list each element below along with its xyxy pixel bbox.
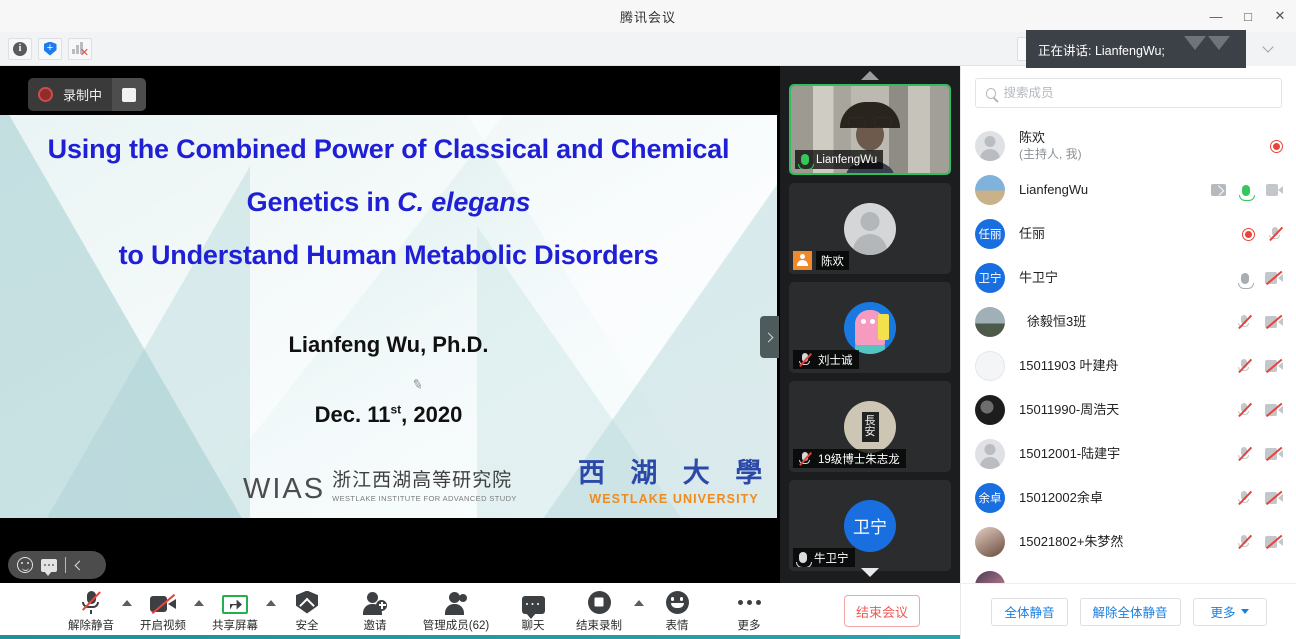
slide-title-line-3: to Understand Human Metabolic Disorders	[0, 229, 777, 282]
video-tile[interactable]: LianfengWu	[789, 84, 951, 175]
search-icon	[986, 88, 996, 99]
tile-name: LianfengWu	[816, 154, 877, 166]
share-toolbar-left: i + ✕	[0, 38, 92, 60]
manage-members-label: 管理成员(62)	[423, 617, 489, 633]
end-meeting-button[interactable]: 结束会议	[844, 595, 920, 627]
participant-actions	[1211, 184, 1283, 196]
pointer-mark: ✎	[410, 376, 424, 394]
minimize-button[interactable]: —	[1200, 0, 1232, 32]
search-box[interactable]	[975, 78, 1282, 108]
mic-off-icon[interactable]	[1237, 314, 1252, 331]
westlake-university-logo: 西 湖 大 學 WESTLAKE UNIVERSITY	[578, 458, 770, 506]
shield-check-icon	[296, 591, 318, 614]
mic-options-caret-icon[interactable]	[122, 600, 132, 606]
more-button[interactable]: 更多	[720, 584, 778, 638]
camera-off-icon	[150, 594, 176, 614]
search-input[interactable]	[1003, 86, 1271, 100]
more-label: 更多	[1211, 602, 1236, 621]
participant-name: 牛卫宁	[1019, 270, 1058, 286]
participant-actions	[1237, 534, 1283, 551]
avatar	[975, 439, 1005, 469]
mic-off-icon[interactable]	[1237, 534, 1252, 551]
unmute-button[interactable]: 解除静音	[62, 584, 120, 638]
unmute-label: 解除静音	[68, 617, 114, 633]
invite-button[interactable]: 邀请	[346, 584, 404, 638]
participant-name: 陈欢 (主持人, 我)	[1019, 130, 1082, 163]
video-tile[interactable]: 長安 19级博士朱志龙	[789, 381, 951, 472]
filmstrip-scroll-down[interactable]	[780, 563, 960, 581]
tile-name: 陈欢	[816, 251, 849, 270]
divider	[65, 557, 66, 573]
tile-label: 陈欢	[793, 251, 855, 270]
slide-presenter: Lianfeng Wu, Ph.D.	[0, 332, 777, 358]
more-label: 更多	[738, 617, 761, 633]
chevron-down-icon	[1241, 609, 1249, 614]
info-button[interactable]: i	[8, 38, 32, 60]
speaking-toast: 正在讲话: LianfengWu;	[1026, 30, 1246, 68]
tile-label: 刘士诚	[793, 350, 859, 369]
participant-actions	[1237, 446, 1283, 463]
record-dot-icon[interactable]	[1270, 140, 1283, 153]
camera-options-caret-icon[interactable]	[194, 600, 204, 606]
list-item-partial[interactable]	[961, 564, 1296, 583]
record-options-caret-icon[interactable]	[634, 600, 644, 606]
stop-record-button[interactable]: 结束录制	[566, 584, 632, 638]
avatar	[975, 175, 1005, 205]
video-tile[interactable]: 陈欢	[789, 183, 951, 274]
participant-actions	[1242, 226, 1283, 243]
list-item[interactable]: 15012001-陆建宇	[961, 432, 1296, 476]
avatar	[975, 395, 1005, 425]
mic-icon[interactable]	[1241, 273, 1249, 284]
participant-actions	[1238, 271, 1283, 285]
slide-logos: WIAS 浙江西湖高等研究院 WESTLAKE INSTITUTE FOR AD…	[0, 448, 777, 512]
chevron-left-icon[interactable]	[75, 560, 85, 570]
camera-off-icon[interactable]	[1265, 447, 1283, 461]
avatar	[975, 571, 1005, 583]
participant-name: 15011990-周浩天	[1019, 402, 1119, 418]
manage-members-button[interactable]: 管理成员(62)	[414, 584, 498, 638]
security-button[interactable]: 安全	[278, 584, 336, 638]
network-chart-icon: ✕	[72, 42, 88, 56]
list-item[interactable]: 徐毅恒3班	[961, 300, 1296, 344]
stop-recording-button[interactable]	[112, 78, 146, 111]
chat-bubble-icon	[522, 596, 545, 614]
participant-actions	[1237, 358, 1283, 375]
shield-icon: +	[44, 42, 57, 56]
invite-label: 邀请	[364, 617, 387, 633]
avatar	[975, 527, 1005, 557]
share-screen-button[interactable]: 共享屏幕	[206, 584, 264, 638]
page-title: 腾讯会议	[620, 7, 676, 26]
list-item[interactable]: 任丽 任丽	[961, 212, 1296, 256]
presentation-slide: Using the Combined Power of Classical an…	[0, 115, 777, 518]
bottom-accent-strip	[0, 635, 960, 639]
chevron-right-icon	[764, 332, 774, 342]
participant-role: (主持人, 我)	[1019, 147, 1082, 161]
meeting-toolbar: 解除静音 开启视频 共享屏幕 安全 邀请 管理成员(62)	[0, 583, 960, 639]
avatar: 長安	[844, 401, 896, 453]
stop-record-icon	[588, 591, 611, 614]
chat-label: 聊天	[522, 617, 545, 633]
mic-off-icon[interactable]	[1237, 490, 1252, 507]
slide-title-line-2-italic: C. elegans	[397, 187, 530, 217]
camera-off-icon[interactable]	[1265, 535, 1283, 549]
participant-actions	[1237, 402, 1283, 419]
avatar	[975, 307, 1005, 337]
avatar: 卫宁	[975, 263, 1005, 293]
chevrons-decor-icon	[1184, 36, 1230, 50]
triangle-up-icon	[861, 71, 879, 80]
mic-off-icon[interactable]	[1268, 226, 1283, 243]
share-screen-icon	[222, 595, 248, 614]
expand-panel-tab[interactable]	[760, 316, 779, 358]
emoji-button[interactable]: 表情	[648, 584, 706, 638]
security-button[interactable]: +	[38, 38, 62, 60]
invite-person-icon	[363, 592, 387, 614]
participants-panel: 陈欢 (主持人, 我) LianfengWu 任丽 任丽	[960, 66, 1296, 639]
video-tile[interactable]: 卫宁 牛卫宁	[789, 480, 951, 571]
participant-actions	[1237, 314, 1283, 331]
wlu-cn: 西 湖 大 學	[578, 458, 770, 490]
manage-members-icon	[444, 592, 468, 614]
share-options-caret-icon[interactable]	[266, 600, 276, 606]
tile-label: LianfengWu	[795, 150, 883, 169]
avatar: 卫宁	[844, 500, 896, 552]
wlu-en: WESTLAKE UNIVERSITY	[578, 492, 770, 506]
slide-title-line-1: Using the Combined Power of Classical an…	[0, 123, 777, 176]
avatar	[975, 131, 1005, 161]
emoji-icon	[666, 591, 689, 614]
list-item[interactable]: 15021802+朱梦然	[961, 520, 1296, 564]
recording-indicator: 录制中	[28, 78, 146, 111]
video-tile[interactable]: 刘士诚	[789, 282, 951, 373]
participant-name: 徐毅恒3班	[1027, 314, 1086, 330]
avatar: 余卓	[975, 483, 1005, 513]
maximize-button[interactable]: □	[1232, 0, 1264, 32]
more-participants-button[interactable]: 更多	[1193, 598, 1267, 626]
triangle-down-icon	[861, 568, 879, 577]
record-dot-icon[interactable]	[1242, 228, 1255, 241]
avatar	[844, 302, 896, 354]
participant-name: 15021802+朱梦然	[1019, 534, 1123, 550]
participant-name: 15011903 叶建舟	[1019, 358, 1119, 374]
mic-off-icon[interactable]	[1237, 358, 1252, 375]
window-controls: — □ ✕	[1200, 0, 1296, 32]
host-person-icon	[793, 251, 812, 270]
chat-bubble-icon[interactable]	[41, 559, 57, 572]
video-person-glasses	[848, 117, 892, 128]
list-item[interactable]: 卫宁 牛卫宁	[961, 256, 1296, 300]
mic-off-icon[interactable]	[1237, 446, 1252, 463]
slide-title: Using the Combined Power of Classical an…	[0, 115, 777, 282]
stop-record-label: 结束录制	[576, 617, 622, 633]
participant-name: 任丽	[1019, 226, 1045, 242]
slide-date: Dec. 11st, 2020	[0, 402, 777, 428]
avatar	[975, 351, 1005, 381]
security-label: 安全	[296, 617, 319, 633]
mic-off-icon	[798, 352, 812, 368]
filmstrip-scroll-up[interactable]	[780, 66, 960, 84]
search-area	[961, 66, 1296, 116]
list-item[interactable]: 15011903 叶建舟	[961, 344, 1296, 388]
participant-name: 15012001-陆建宇	[1019, 446, 1120, 462]
participants-list[interactable]: 陈欢 (主持人, 我) LianfengWu 任丽 任丽	[961, 124, 1296, 583]
window-title-bar: 腾讯会议 — □ ✕	[0, 0, 1296, 32]
mic-icon	[799, 552, 807, 563]
slide-title-line-2: Genetics in C. elegans	[0, 176, 777, 229]
network-status-button[interactable]: ✕	[68, 38, 92, 60]
start-video-button[interactable]: 开启视频	[134, 584, 192, 638]
mic-off-icon	[798, 451, 812, 467]
emoji-icon[interactable]	[17, 557, 33, 573]
camera-off-icon[interactable]	[1265, 403, 1283, 417]
tile-label: 19级博士朱志龙	[793, 449, 906, 468]
stop-square-icon	[122, 88, 136, 102]
share-screen-label: 共享屏幕	[212, 617, 258, 633]
avatar: 任丽	[975, 219, 1005, 249]
slide-date-sup: st	[391, 403, 402, 417]
start-video-label: 开启视频	[140, 617, 186, 633]
mute-all-button[interactable]: 全体静音	[991, 598, 1067, 626]
mic-on-icon	[801, 154, 809, 165]
list-item[interactable]: LianfengWu	[961, 168, 1296, 212]
participant-name: 15012002余卓	[1019, 490, 1103, 506]
wias-en: WESTLAKE INSTITUTE FOR ADVANCED STUDY	[332, 494, 517, 503]
avatar	[844, 203, 896, 255]
tile-name: 19级博士朱志龙	[818, 451, 900, 467]
info-icon: i	[13, 42, 27, 56]
participants-footer: 全体静音 解除全体静音 更多	[961, 583, 1296, 639]
record-dot-icon	[38, 87, 53, 102]
emoji-label: 表情	[666, 617, 689, 633]
more-dots-icon	[738, 591, 761, 614]
wias-abbr: WIAS	[243, 474, 325, 504]
list-item[interactable]: 15011990-周浩天	[961, 388, 1296, 432]
participant-actions	[1237, 490, 1283, 507]
wias-logo: WIAS 浙江西湖高等研究院 WESTLAKE INSTITUTE FOR AD…	[243, 471, 517, 504]
speaking-toast-label: 正在讲话: LianfengWu;	[1038, 40, 1165, 59]
tile-name: 刘士诚	[818, 352, 853, 368]
participant-name-text: 陈欢	[1019, 130, 1045, 145]
camera-icon[interactable]	[1266, 184, 1283, 196]
camera-off-icon[interactable]	[1265, 271, 1283, 285]
chevron-down-icon	[1262, 41, 1273, 52]
list-item[interactable]: 余卓 15012002余卓	[961, 476, 1296, 520]
mic-off-icon	[80, 590, 102, 614]
camera-off-icon[interactable]	[1265, 315, 1283, 329]
video-filmstrip: LianfengWu 陈欢 刘士诚 長安 19级博士朱志龙	[780, 66, 960, 583]
unmute-all-button[interactable]: 解除全体静音	[1080, 598, 1181, 626]
slide-title-line-2-a: Genetics in	[247, 187, 398, 217]
mic-on-icon[interactable]	[1242, 185, 1250, 196]
shared-screen-stage: 录制中 Using the Combined Power of Classica…	[0, 66, 780, 583]
slide-date-rest: , 2020	[401, 402, 462, 427]
floating-mini-toolbar	[8, 551, 106, 579]
screen-share-icon[interactable]	[1211, 184, 1226, 196]
recording-label: 录制中	[63, 85, 102, 104]
slide-date-main: Dec. 11	[315, 402, 391, 427]
chat-button[interactable]: 聊天	[504, 584, 562, 638]
participant-name: LianfengWu	[1019, 182, 1088, 198]
wias-cn: 浙江西湖高等研究院	[332, 470, 512, 491]
list-item[interactable]: 陈欢 (主持人, 我)	[961, 124, 1296, 168]
camera-off-icon[interactable]	[1265, 359, 1283, 373]
panel-collapse-button[interactable]	[1240, 32, 1296, 66]
camera-off-icon[interactable]	[1265, 491, 1283, 505]
participant-actions	[1270, 140, 1283, 153]
close-button[interactable]: ✕	[1264, 0, 1296, 32]
mic-off-icon[interactable]	[1237, 402, 1252, 419]
